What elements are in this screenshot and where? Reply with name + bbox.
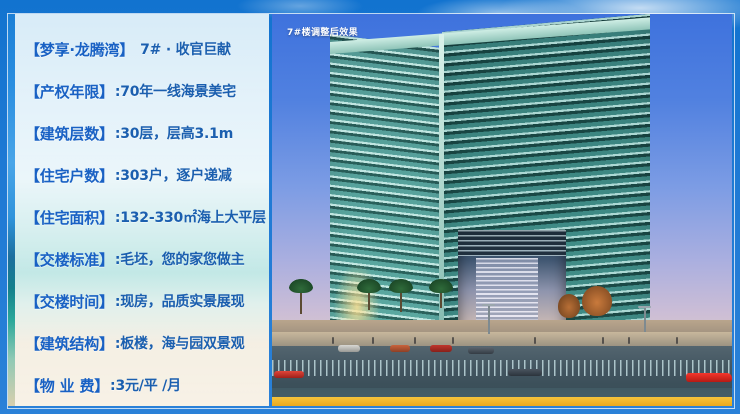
spec-label: 【梦享·龙腾湾】 <box>25 39 134 60</box>
spec-value: :132-330㎡海上大平层 <box>115 207 266 227</box>
render-caption: 7#楼调整后效果 <box>287 25 358 38</box>
spec-label: 【产权年限】 <box>25 81 114 102</box>
spec-label: 【住宅面积】 <box>25 207 114 228</box>
car-red <box>274 371 304 378</box>
spec-row: 【建筑结构】 :板楼，海与园双景观 <box>25 322 269 364</box>
spec-row: 【建筑层数】 :30层，层高3.1m <box>25 112 269 154</box>
spec-value: :303户，逐户递减 <box>115 165 232 185</box>
spec-row: 【产权年限】 :70年一线海景美宅 <box>25 70 269 112</box>
palm-tree-icon <box>368 288 370 310</box>
spec-row: 【住宅面积】 :132-330㎡海上大平层 <box>25 196 269 238</box>
spec-label: 【建筑结构】 <box>25 333 114 354</box>
car-dark <box>508 369 542 376</box>
spec-value: :板楼，海与园双景观 <box>115 333 245 353</box>
spec-row: 【交楼标准】 :毛坯，您的家您做主 <box>25 238 269 280</box>
car-orange <box>390 345 410 352</box>
spec-value: :3元/平 /月 <box>110 375 181 395</box>
pedestrian <box>676 337 678 344</box>
palm-tree-icon <box>440 288 442 308</box>
spec-value: :现房，品质实景展现 <box>115 291 245 311</box>
pedestrian <box>414 337 416 344</box>
car-white <box>338 345 360 352</box>
spec-label: 【建筑层数】 <box>25 123 114 144</box>
spec-list: 【梦享·龙腾湾】 7# · 收官巨献 【产权年限】 :70年一线海景美宅 【建筑… <box>25 28 269 406</box>
car-dark <box>468 347 494 354</box>
spec-value: 7# · 收官巨献 <box>140 39 231 59</box>
spec-value: :30层，层高3.1m <box>115 123 233 143</box>
portal-lintel <box>458 230 566 256</box>
pedestrian <box>332 337 334 344</box>
pedestrian <box>372 337 374 344</box>
spec-label: 【住宅户数】 <box>25 165 114 186</box>
spec-value: :毛坯，您的家您做主 <box>115 249 245 269</box>
spec-row: 【梦享·龙腾湾】 7# · 收官巨献 <box>25 28 269 70</box>
pedestrian <box>452 337 454 344</box>
road-fence <box>272 360 732 376</box>
spec-row: 【住宅户数】 :303户，逐户递减 <box>25 154 269 196</box>
spec-value: :70年一线海景美宅 <box>115 81 236 101</box>
tower-corner-edge <box>439 34 444 364</box>
palm-tree-icon <box>300 288 302 314</box>
pedestrian <box>628 337 630 344</box>
spec-row: 【交楼时间】 :现房，品质实景展现 <box>25 280 269 322</box>
sidewalk <box>272 332 732 346</box>
car-red <box>430 345 452 352</box>
spec-label: 【物 业 费】 <box>25 375 109 396</box>
autumn-tree-icon <box>558 294 580 318</box>
spec-label: 【交楼标准】 <box>25 249 114 270</box>
spec-row: 【物 业 费】 :3元/平 /月 <box>25 364 269 406</box>
street-lamp-icon <box>644 306 646 332</box>
pedestrian <box>602 337 604 344</box>
sea-gradient-strip <box>8 14 15 406</box>
street-lamp-icon <box>488 304 490 334</box>
car-red <box>686 373 732 382</box>
pedestrian <box>534 337 536 344</box>
gold-accent-band <box>272 397 732 406</box>
spec-label: 【交楼时间】 <box>25 291 114 312</box>
spec-panel: 【梦享·龙腾湾】 7# · 收官巨献 【产权年限】 :70年一线海景美宅 【建筑… <box>8 14 269 406</box>
palm-tree-icon <box>400 288 402 312</box>
promo-banner: 【梦享·龙腾湾】 7# · 收官巨献 【产权年限】 :70年一线海景美宅 【建筑… <box>0 0 740 414</box>
building-render-panel: 7#楼调整后效果 <box>272 14 732 406</box>
autumn-tree-icon <box>582 286 612 316</box>
